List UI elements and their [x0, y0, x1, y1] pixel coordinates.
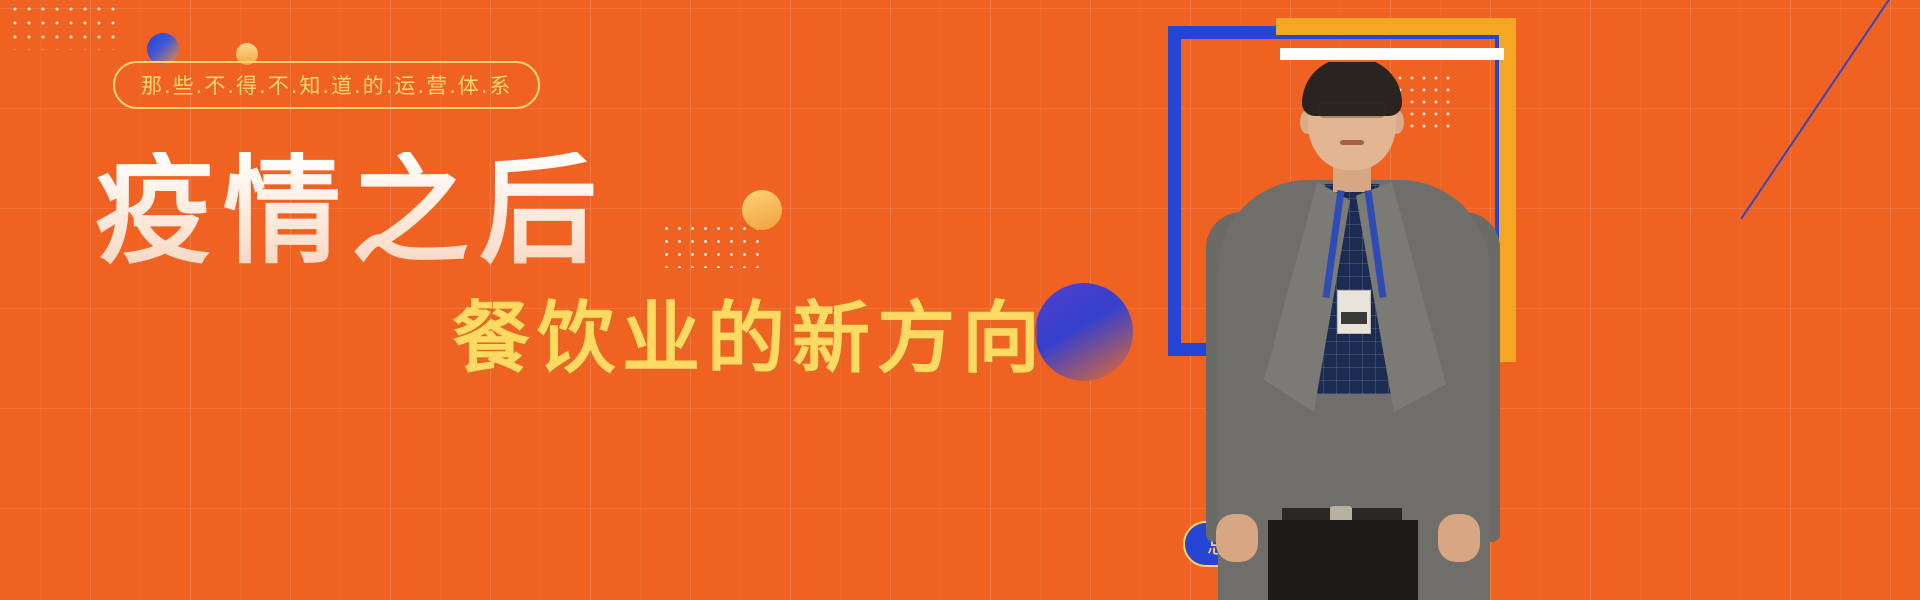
- dot-matrix-center-icon: [660, 222, 764, 268]
- subtitle-text: 那.些.不.得.不.知.道.的.运.营.体.系: [141, 70, 512, 100]
- portrait-right-eye: [1364, 108, 1378, 113]
- banner-stage: 那.些.不.得.不.知.道.的.运.营.体.系 疫情之后 餐饮业的新方向 总经理…: [0, 0, 1920, 600]
- dot-matrix-top-left-icon: [8, 0, 118, 50]
- photo-frame-white-strip: [1280, 48, 1504, 60]
- portrait-trousers: [1268, 520, 1418, 600]
- gradient-circle-gold-medium-icon: [742, 190, 782, 230]
- portrait-id-badge-stripe: [1341, 312, 1367, 324]
- portrait-mouth: [1340, 140, 1364, 145]
- subheadline-title: 餐饮业的新方向: [452, 300, 1047, 378]
- diagonal-line-decor: [1740, 0, 1909, 219]
- subtitle-pill: 那.些.不.得.不.知.道.的.运.营.体.系: [113, 61, 540, 109]
- speaker-portrait: [1190, 62, 1520, 600]
- portrait-right-hand: [1438, 514, 1480, 562]
- portrait-left-hand: [1216, 514, 1258, 562]
- headline-title: 疫情之后: [95, 152, 607, 270]
- gradient-circle-blue-large-icon: [1035, 283, 1133, 381]
- portrait-left-eye: [1326, 108, 1340, 113]
- photo-frame-gold-top-bar: [1276, 18, 1516, 35]
